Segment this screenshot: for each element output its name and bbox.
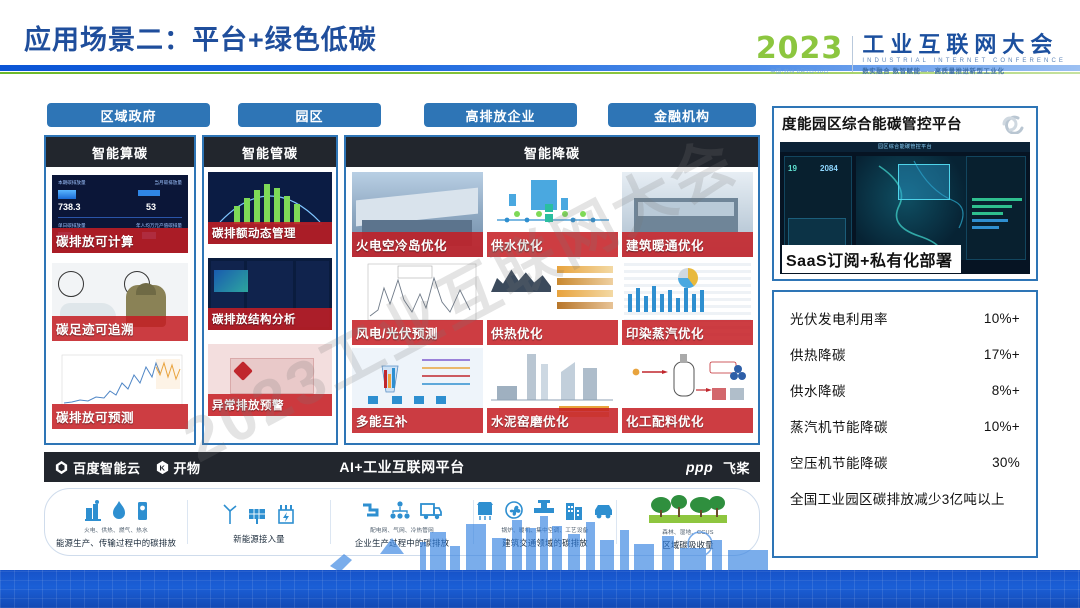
paddlepaddle-icon: ppp bbox=[686, 459, 720, 475]
card-emission-structure-analysis[interactable]: 碳排放结构分析 bbox=[208, 258, 332, 330]
card-caption: 化工配料优化 bbox=[622, 408, 753, 433]
column-header-financial[interactable]: 金融机构 bbox=[608, 103, 756, 127]
metric-label: 供热降碳 bbox=[790, 344, 846, 364]
card-building-hvac-optimization[interactable]: 建筑暖通优化 bbox=[622, 172, 753, 257]
card-caption: 风电/光伏预测 bbox=[352, 320, 483, 345]
card-caption: 碳排放可计算 bbox=[52, 228, 188, 253]
column-header-park[interactable]: 园区 bbox=[238, 103, 381, 127]
card-caption: 火电空冷岛优化 bbox=[352, 232, 483, 257]
metric-label: 光伏发电利用率 bbox=[790, 308, 888, 328]
metric-a-value: 738.3 bbox=[58, 202, 81, 212]
conference-logo: 2023 中国·苏州 8月1日-10日 工业互联网大会 INDUSTRIAL I… bbox=[756, 28, 1066, 80]
metric-value: 17%+ bbox=[984, 347, 1020, 362]
card-wind-solar-forecast[interactable]: 风电/光伏预测 bbox=[352, 260, 483, 345]
section-title-calc: 智能算碳 bbox=[46, 137, 194, 167]
logo-year-block: 2023 中国·苏州 8月1日-10日 bbox=[756, 34, 853, 75]
logo-name-en: INDUSTRIAL INTERNET CONFERENCE bbox=[862, 58, 1066, 64]
saas-label: SaaS订阅+私有化部署 bbox=[782, 245, 961, 273]
slide-canvas: 应用场景二：平台+绿色低碳 2023 中国·苏州 8月1日-10日 工业互联网大… bbox=[0, 0, 1080, 608]
logo-name-block: 工业互联网大会 INDUSTRIAL INTERNET CONFERENCE 数… bbox=[853, 33, 1066, 75]
metric-row: 空压机节能降碳30% bbox=[790, 452, 1020, 472]
platform-bar-center-label: AI+工业互联网平台 bbox=[44, 457, 760, 477]
page-title: 应用场景二：平台+绿色低碳 bbox=[24, 18, 377, 57]
card-caption: 碳排额动态管理 bbox=[208, 222, 332, 244]
metric-row: 供热降碳17%+ bbox=[790, 344, 1020, 364]
card-thermal-air-cooling-island[interactable]: 火电空冷岛优化 bbox=[352, 172, 483, 257]
column-header-high-emission[interactable]: 高排放企业 bbox=[424, 103, 577, 127]
card-caption: 异常排放预警 bbox=[208, 394, 332, 416]
card-quota-dynamic-management[interactable]: 碳排额动态管理 bbox=[208, 172, 332, 244]
platform-bar: 百度智能云 K 开物 AI+工业互联网平台 ppp 飞桨 bbox=[44, 452, 760, 482]
metric-label: 空压机节能降碳 bbox=[790, 452, 888, 472]
card-caption: 供水优化 bbox=[487, 232, 618, 257]
logo-tagline: 数实融合 数智赋能——高质量推进新型工业化 bbox=[862, 66, 1066, 75]
metric-row: 供水降碳8%+ bbox=[790, 380, 1020, 400]
logo-year: 2023 bbox=[756, 34, 844, 64]
dashboard-title: 园区综合能碳管控平台 bbox=[780, 143, 1030, 150]
card-abnormal-emission-alert[interactable]: 异常排放预警 bbox=[208, 344, 332, 416]
card-dyeing-steam-optimization[interactable]: 印染蒸汽优化 bbox=[622, 260, 753, 345]
brand-paddlepaddle[interactable]: ppp 飞桨 bbox=[686, 458, 750, 477]
svg-text:ppp: ppp bbox=[686, 459, 713, 475]
skyline-decoration bbox=[0, 514, 1080, 572]
card-carbon-footprint-traceable[interactable]: 碳足迹可追溯 bbox=[52, 263, 188, 341]
metric-value: 8%+ bbox=[992, 383, 1020, 398]
card-heat-supply-optimization[interactable]: 供热优化 bbox=[487, 260, 618, 345]
metric-label: 供水降碳 bbox=[790, 380, 846, 400]
card-caption: 碳排放结构分析 bbox=[208, 308, 332, 330]
card-caption: 印染蒸汽优化 bbox=[622, 320, 753, 345]
logo-name-cn: 工业互联网大会 bbox=[862, 33, 1066, 56]
metric-value: 30% bbox=[992, 455, 1020, 470]
section-title-reduce: 智能降碳 bbox=[346, 137, 758, 167]
card-chemical-formula-optimization[interactable]: 化工配料优化 bbox=[622, 348, 753, 433]
metrics-summary: 全国工业园区碳排放减少3亿吨以上 bbox=[790, 488, 1020, 508]
card-caption: 供热优化 bbox=[487, 320, 618, 345]
card-carbon-forecast[interactable]: 碳排放可预测 bbox=[52, 351, 188, 429]
cloud-loop-icon bbox=[996, 114, 1026, 134]
card-carbon-calculable[interactable]: 本期碳排放量当月碳排放量 738.3 53 单日碳排放量年人均万元产值碳排量 碳… bbox=[52, 175, 188, 253]
metric-b-value: 53 bbox=[146, 202, 156, 212]
brand-paddlepaddle-label: 飞桨 bbox=[723, 458, 750, 477]
card-cement-kiln-mill-optimization[interactable]: 水泥窑磨优化 bbox=[487, 348, 618, 433]
card-caption: 碳排放可预测 bbox=[52, 404, 188, 429]
card-multi-energy-complementary[interactable]: 多能互补 bbox=[352, 348, 483, 433]
card-caption: 水泥窑磨优化 bbox=[487, 408, 618, 433]
section-title-manage: 智能管碳 bbox=[204, 137, 336, 167]
logo-year-sub: 中国·苏州 8月1日-10日 bbox=[770, 68, 828, 75]
column-header-region-gov[interactable]: 区域政府 bbox=[47, 103, 210, 127]
panel-platform-preview: 度能园区综合能碳管控平台 园区综合能碳管控平台 19 2084 bbox=[772, 106, 1038, 281]
metric-row: 蒸汽机节能降碳10%+ bbox=[790, 416, 1020, 436]
metric-row: 光伏发电利用率10%+ bbox=[790, 308, 1020, 328]
footer-decoration bbox=[0, 570, 1080, 608]
card-caption: 碳足迹可追溯 bbox=[52, 316, 188, 341]
card-water-supply-optimization[interactable]: 供水优化 bbox=[487, 172, 618, 257]
metric-value: 10%+ bbox=[984, 419, 1020, 434]
metrics-list: 光伏发电利用率10%+供热降碳17%+供水降碳8%+蒸汽机节能降碳10%+空压机… bbox=[790, 308, 1020, 472]
card-caption: 多能互补 bbox=[352, 408, 483, 433]
metric-value: 10%+ bbox=[984, 311, 1020, 326]
metric-label: 蒸汽机节能降碳 bbox=[790, 416, 888, 436]
right-panel-title: 度能园区综合能碳管控平台 bbox=[782, 113, 962, 134]
card-caption: 建筑暖通优化 bbox=[622, 232, 753, 257]
